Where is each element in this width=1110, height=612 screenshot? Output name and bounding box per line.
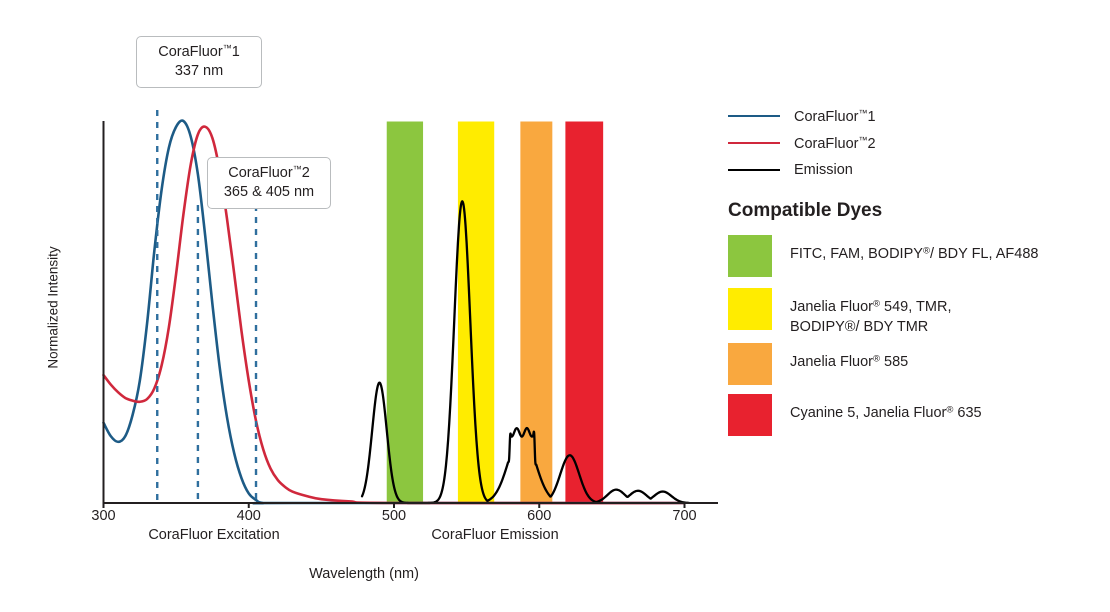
x-tick-label-600: 600: [527, 508, 551, 524]
legend-row-corafluor1: CoraFluor™1: [728, 108, 876, 125]
green-band: [387, 122, 423, 504]
legend-line-swatch: [728, 142, 780, 144]
dye-row-3: Cyanine 5, Janelia Fluor® 635: [728, 394, 982, 436]
legend-row-emission: Emission: [728, 162, 853, 178]
emission-filter-bands: [387, 122, 603, 504]
registered-symbol: ®: [873, 353, 880, 364]
orange-band: [520, 122, 552, 504]
legend-line-swatch: [728, 169, 780, 171]
registered-symbol: ®: [946, 404, 953, 415]
dye-row-2: Janelia Fluor® 585: [728, 343, 908, 385]
legend-line-label: Emission: [794, 162, 853, 178]
fluorescence-spectra-figure: CoraFluor™1 337 nm CoraFluor™2 365 & 405…: [0, 0, 1110, 612]
x-tick-label-400: 400: [237, 508, 261, 524]
x-tick-label-500: 500: [382, 508, 406, 524]
trademark-symbol: ™: [858, 135, 867, 145]
callout-cf2-value: 365 & 405 nm: [218, 183, 320, 202]
trademark-symbol: ™: [223, 43, 232, 53]
legend-line-label: CoraFluor™1: [794, 108, 876, 125]
trademark-symbol: ™: [293, 164, 302, 174]
y-axis-label: Normalized Intensity: [46, 228, 61, 388]
registered-symbol: ®: [873, 298, 880, 309]
callout-cf2-title: CoraFluor™2: [218, 164, 320, 183]
x-axis-label: Wavelength (nm): [0, 566, 728, 582]
emission-group-label: CoraFluor Emission: [386, 527, 604, 543]
dye-label: FITC, FAM, BODIPY®/ BDY FL, AF488: [790, 235, 1038, 264]
excitation-group-label: CoraFluor Excitation: [103, 527, 325, 543]
dye-color-swatch: [728, 343, 772, 385]
dye-row-1: Janelia Fluor® 549, TMR,BODIPY®/ BDY TMR: [728, 288, 951, 337]
legend-line-label: CoraFluor™2: [794, 135, 876, 152]
callout-corafluor2: CoraFluor™2 365 & 405 nm: [207, 157, 331, 209]
callout-corafluor1: CoraFluor™1 337 nm: [136, 36, 262, 88]
dye-label: Cyanine 5, Janelia Fluor® 635: [790, 394, 982, 423]
red-band: [565, 122, 603, 504]
dye-row-0: FITC, FAM, BODIPY®/ BDY FL, AF488: [728, 235, 1038, 277]
dye-color-swatch: [728, 394, 772, 436]
dye-color-swatch: [728, 235, 772, 277]
compatible-dyes-title: Compatible Dyes: [728, 200, 882, 222]
dye-color-swatch: [728, 288, 772, 330]
dye-label: Janelia Fluor® 549, TMR,BODIPY®/ BDY TMR: [790, 288, 951, 337]
legend-row-corafluor2: CoraFluor™2: [728, 135, 876, 152]
registered-symbol: ®: [923, 245, 930, 256]
dye-label: Janelia Fluor® 585: [790, 343, 908, 372]
x-tick-label-300: 300: [91, 508, 115, 524]
x-tick-label-700: 700: [672, 508, 696, 524]
callout-cf1-value: 337 nm: [147, 62, 251, 81]
legend-line-swatch: [728, 115, 780, 117]
trademark-symbol: ™: [858, 108, 867, 118]
callout-cf1-title: CoraFluor™1: [147, 43, 251, 62]
